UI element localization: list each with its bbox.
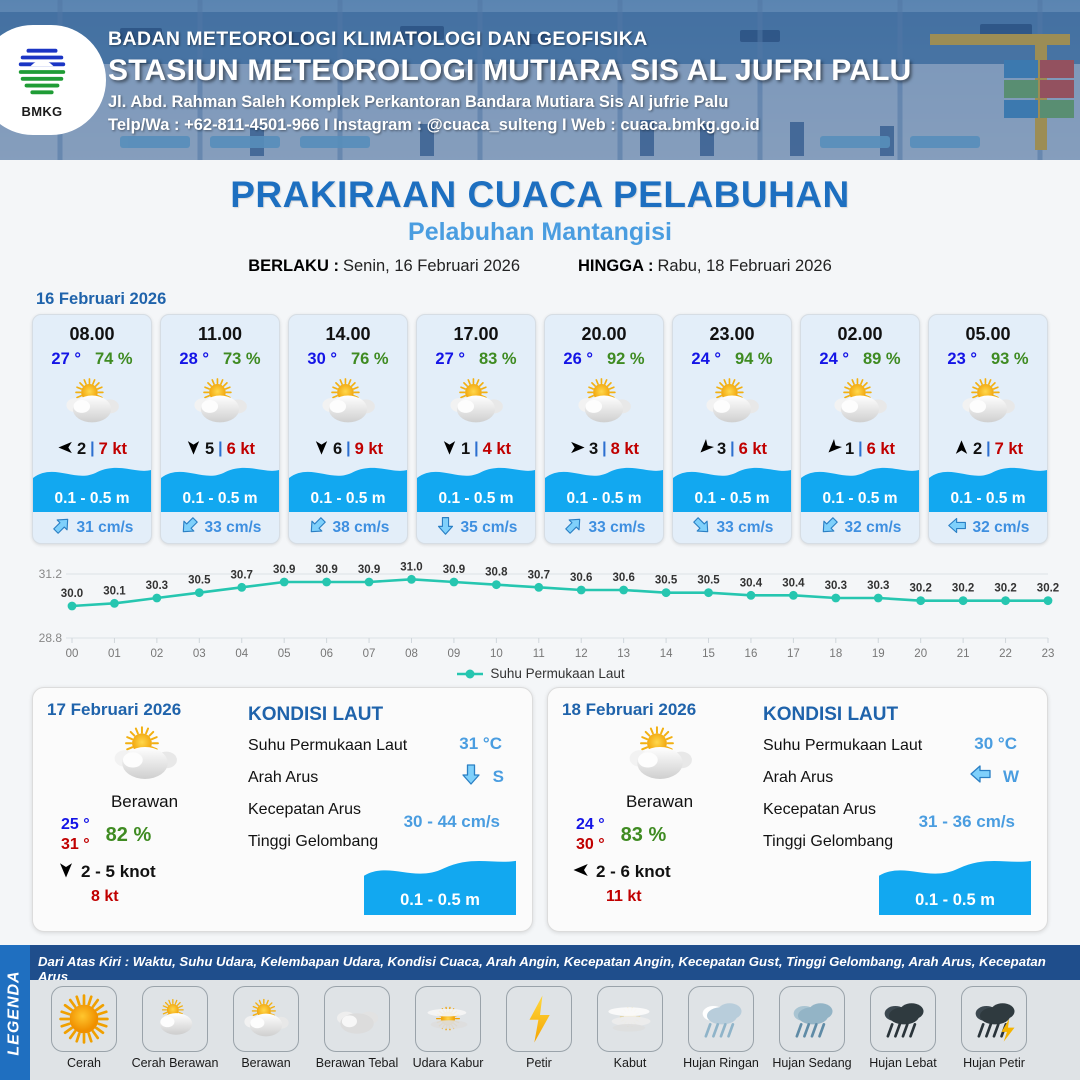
legend-tab: LEGENDA: [0, 945, 30, 1080]
svg-text:01: 01: [108, 648, 121, 660]
card-wind-row: 3 | 6 kt: [673, 437, 791, 461]
daily-forecast-panels: 17 Februari 2026 Berawan 25 ° 31 ° 82 % …: [0, 681, 1080, 932]
card-wave-block: 0.1 - 0.5 m: [417, 464, 535, 512]
card-wave-height-band: 0.1 - 0.5 m: [673, 486, 791, 512]
current-direction-arrow-icon: [969, 762, 993, 791]
hourly-card: 05.00 23 ° 93 % 2 | 7 kt 0.1 - 0.5 m 32: [928, 314, 1048, 544]
svg-text:21: 21: [957, 648, 970, 660]
svg-text:30.6: 30.6: [612, 572, 634, 584]
legend-item: Cerah Berawan: [133, 986, 217, 1080]
daily-sea-conditions: KONDISI LAUT Suhu Permukaan Laut Arah Ar…: [757, 700, 1033, 919]
sea-condition-title: KONDISI LAUT: [248, 704, 518, 726]
daily-wave-block: 0.1 - 0.5 m: [364, 859, 516, 915]
hourly-date-label: 16 Februari 2026: [36, 290, 1080, 309]
legend-item: Hujan Petir: [952, 986, 1036, 1080]
cerah-berawan-icon: [417, 371, 535, 433]
legend-item: Hujan Lebat: [861, 986, 945, 1080]
card-wind-speed: 6: [333, 440, 342, 459]
page-title-block: PRAKIRAAN CUACA PELABUHAN Pelabuhan Mant…: [0, 174, 1080, 276]
current-direction-arrow-icon: [947, 515, 968, 541]
card-humidity: 89 %: [863, 350, 901, 369]
card-separator: |: [346, 440, 350, 458]
svg-text:30.2: 30.2: [910, 583, 932, 595]
svg-text:30.4: 30.4: [740, 577, 763, 589]
card-temperature: 24 °: [691, 350, 721, 369]
daily-date: 17 Februari 2026: [47, 700, 242, 720]
kabut-icon: [597, 986, 663, 1052]
svg-text:30.3: 30.3: [867, 580, 889, 592]
card-temp-hum-row: 26 ° 92 %: [545, 350, 663, 369]
card-humidity: 76 %: [351, 350, 389, 369]
card-wind-speed: 2: [77, 440, 86, 459]
card-time: 17.00: [417, 315, 535, 345]
cerah-berawan-icon: [142, 986, 208, 1052]
daily-gust: 11 kt: [562, 888, 757, 906]
card-wave-block: 0.1 - 0.5 m: [545, 464, 663, 512]
svg-text:13: 13: [617, 648, 630, 660]
card-humidity: 92 %: [607, 350, 645, 369]
sst-value: 30 °C: [974, 734, 1017, 754]
svg-text:30.6: 30.6: [570, 572, 592, 584]
hourly-card: 02.00 24 ° 89 % 1 | 6 kt 0.1 - 0.5 m 32: [800, 314, 920, 544]
hourly-card: 17.00 27 ° 83 % 1 | 4 kt 0.1 - 0.5 m 35: [416, 314, 536, 544]
current-direction-arrow-icon: [459, 762, 483, 791]
legend-item-label: Udara Kabur: [413, 1056, 484, 1070]
daily-date: 18 Februari 2026: [562, 700, 757, 720]
card-humidity: 94 %: [735, 350, 773, 369]
card-humidity: 74 %: [95, 350, 133, 369]
current-direction-arrow-icon: [179, 515, 200, 541]
card-current-row: 38 cm/s: [289, 512, 407, 543]
wave-shape-icon: [364, 859, 516, 885]
card-wind-row: 3 | 8 kt: [545, 437, 663, 461]
legend-icon-strip: Cerah Cerah Berawan Berawan Berawan Teba…: [30, 980, 1080, 1080]
bmkg-logo-text: BMKG: [22, 104, 63, 119]
card-wind-row: 2 | 7 kt: [929, 437, 1047, 461]
card-separator: |: [730, 440, 734, 458]
card-separator: |: [474, 440, 478, 458]
card-temp-hum-row: 27 ° 83 %: [417, 350, 535, 369]
hourly-card: 20.00 26 ° 92 % 3 | 8 kt 0.1 - 0.5 m 33: [544, 314, 664, 544]
daily-panel: 18 Februari 2026 Berawan 24 ° 30 ° 83 % …: [547, 687, 1048, 932]
card-current-row: 35 cm/s: [417, 512, 535, 543]
svg-text:30.2: 30.2: [952, 583, 974, 595]
card-gust: 8 kt: [611, 440, 639, 459]
legend-item: Kabut: [588, 986, 672, 1080]
card-current-row: 33 cm/s: [545, 512, 663, 543]
legend-item-label: Cerah Berawan: [132, 1056, 219, 1070]
hourly-card: 11.00 28 ° 73 % 5 | 6 kt 0.1 - 0.5 m 33: [160, 314, 280, 544]
berawan-icon: [233, 986, 299, 1052]
current-direction-value: S: [493, 767, 504, 787]
card-wave-block: 0.1 - 0.5 m: [161, 464, 279, 512]
card-temperature: 27 °: [435, 350, 465, 369]
sst-chart-svg: 31.228.800010203040506070809101112131415…: [20, 552, 1060, 664]
card-time: 11.00: [161, 315, 279, 345]
legend-item-label: Hujan Petir: [963, 1056, 1025, 1070]
svg-text:03: 03: [193, 648, 206, 660]
svg-text:30.9: 30.9: [443, 564, 465, 576]
card-current-speed: 32 cm/s: [845, 519, 902, 537]
header-text-block: BADAN METEOROLOGI KLIMATOLOGI DAN GEOFIS…: [108, 28, 911, 135]
card-gust: 6 kt: [867, 440, 895, 459]
legend-item-label: Hujan Sedang: [772, 1056, 851, 1070]
wind-direction-arrow-icon: [313, 439, 330, 460]
card-wave-height: 0.1 - 0.5 m: [567, 490, 642, 508]
svg-text:06: 06: [320, 648, 333, 660]
legend-item: Berawan Tebal: [315, 986, 399, 1080]
svg-text:30.9: 30.9: [273, 564, 295, 576]
card-current-speed: 33 cm/s: [589, 519, 646, 537]
card-gust: 7 kt: [995, 440, 1023, 459]
legend-item-label: Berawan Tebal: [316, 1056, 398, 1070]
card-wind-row: 2 | 7 kt: [33, 437, 151, 461]
card-wave-block: 0.1 - 0.5 m: [289, 464, 407, 512]
hujan-petir-icon: [961, 986, 1027, 1052]
card-wave-height-band: 0.1 - 0.5 m: [545, 486, 663, 512]
hourly-forecast-cards: 08.00 27 ° 74 % 2 | 7 kt 0.1 - 0.5 m 31: [0, 314, 1080, 544]
svg-text:18: 18: [829, 648, 842, 660]
validity-row: BERLAKU :Senin, 16 Februari 2026 HINGGA …: [0, 257, 1080, 276]
card-wind-speed: 3: [717, 440, 726, 459]
card-wind-speed: 2: [973, 440, 982, 459]
card-gust: 6 kt: [227, 440, 255, 459]
hujan-sedang-icon: [779, 986, 845, 1052]
current-direction-arrow-icon: [563, 515, 584, 541]
card-temperature: 23 °: [947, 350, 977, 369]
current-speed-value: 30 - 44 cm/s: [404, 812, 500, 832]
berawan-tebal-icon: [324, 986, 390, 1052]
legend-item: Hujan Sedang: [770, 986, 854, 1080]
card-wind-row: 1 | 4 kt: [417, 437, 535, 461]
svg-text:19: 19: [872, 648, 885, 660]
svg-text:02: 02: [150, 648, 163, 660]
daily-humidity: 83 %: [621, 824, 667, 847]
svg-text:14: 14: [660, 648, 673, 660]
svg-text:30.7: 30.7: [231, 569, 253, 581]
legend-tab-label: LEGENDA: [6, 970, 24, 1055]
daily-wave-band: 0.1 - 0.5 m: [879, 885, 1031, 915]
daily-temp-min: 24 °: [576, 816, 605, 834]
svg-text:09: 09: [448, 648, 461, 660]
card-current-speed: 32 cm/s: [973, 519, 1030, 537]
card-current-row: 33 cm/s: [673, 512, 791, 543]
daily-wind-speed: 2 - 6 knot: [596, 862, 671, 882]
card-wave-height-band: 0.1 - 0.5 m: [33, 486, 151, 512]
daily-humidity: 82 %: [106, 824, 152, 847]
svg-text:22: 22: [999, 648, 1012, 660]
wave-shape-icon: [545, 464, 663, 486]
daily-left: 17 Februari 2026 Berawan 25 ° 31 ° 82 % …: [47, 700, 242, 919]
station-name: STASIUN METEOROLOGI MUTIARA SIS AL JUFRI…: [108, 54, 911, 88]
svg-text:31.2: 31.2: [39, 567, 63, 581]
wave-height-label: Tinggi Gelombang: [248, 833, 518, 851]
svg-text:08: 08: [405, 648, 418, 660]
svg-text:10: 10: [490, 648, 503, 660]
card-wind-speed: 1: [461, 440, 470, 459]
card-wind-row: 1 | 6 kt: [801, 437, 919, 461]
svg-text:11: 11: [533, 648, 545, 660]
svg-text:28.8: 28.8: [39, 631, 63, 645]
card-wave-block: 0.1 - 0.5 m: [929, 464, 1047, 512]
wave-shape-icon: [801, 464, 919, 486]
cerah-berawan-icon: [801, 371, 919, 433]
svg-text:30.1: 30.1: [103, 585, 126, 597]
card-wave-height: 0.1 - 0.5 m: [951, 490, 1026, 508]
svg-text:30.0: 30.0: [61, 588, 83, 600]
bmkg-logo: BMKG: [0, 25, 106, 135]
legend-item-label: Petir: [526, 1056, 552, 1070]
daily-wind-speed: 2 - 5 knot: [81, 862, 156, 882]
card-wave-height: 0.1 - 0.5 m: [183, 490, 258, 508]
cerah-berawan-icon: [545, 371, 663, 433]
svg-text:12: 12: [575, 648, 588, 660]
legend-item: Berawan: [224, 986, 308, 1080]
legend-item-label: Berawan: [241, 1056, 290, 1070]
chart-legend: Suhu Permukaan Laut: [0, 666, 1080, 681]
card-wind-speed: 1: [845, 440, 854, 459]
sst-chart: 31.228.800010203040506070809101112131415…: [20, 552, 1060, 664]
svg-text:07: 07: [363, 648, 376, 660]
svg-text:30.5: 30.5: [188, 575, 211, 587]
svg-text:30.5: 30.5: [697, 575, 720, 587]
card-wave-height-band: 0.1 - 0.5 m: [929, 486, 1047, 512]
wave-shape-icon: [929, 464, 1047, 486]
daily-temp-max: 30 °: [576, 836, 605, 854]
cerah-berawan-icon: [289, 371, 407, 433]
daily-temp-max: 31 °: [61, 836, 90, 854]
hourly-card: 14.00 30 ° 76 % 6 | 9 kt 0.1 - 0.5 m 38: [288, 314, 408, 544]
card-wind-row: 5 | 6 kt: [161, 437, 279, 461]
card-current-row: 32 cm/s: [801, 512, 919, 543]
card-wind-speed: 3: [589, 440, 598, 459]
cerah-berawan-icon: [929, 371, 1047, 433]
card-wave-height-band: 0.1 - 0.5 m: [801, 486, 919, 512]
svg-text:30.8: 30.8: [485, 567, 508, 579]
card-humidity: 73 %: [223, 350, 261, 369]
card-wave-block: 0.1 - 0.5 m: [33, 464, 151, 512]
svg-text:30.3: 30.3: [146, 580, 168, 592]
port-name: Pelabuhan Mantangisi: [0, 218, 1080, 247]
svg-text:16: 16: [745, 648, 758, 660]
svg-text:05: 05: [278, 648, 291, 660]
daily-wind-row: 2 - 5 knot: [47, 861, 242, 883]
card-temperature: 28 °: [179, 350, 209, 369]
hourly-card: 08.00 27 ° 74 % 2 | 7 kt 0.1 - 0.5 m 31: [32, 314, 152, 544]
card-wave-block: 0.1 - 0.5 m: [673, 464, 791, 512]
svg-text:30.2: 30.2: [994, 583, 1016, 595]
daily-temp-col: 24 ° 30 °: [576, 816, 605, 854]
wind-direction-arrow-icon: [572, 861, 590, 883]
card-humidity: 93 %: [991, 350, 1029, 369]
card-wave-height-band: 0.1 - 0.5 m: [289, 486, 407, 512]
card-separator: |: [858, 440, 862, 458]
daily-wave-block: 0.1 - 0.5 m: [879, 859, 1031, 915]
current-direction-arrow-icon: [435, 515, 456, 541]
wave-shape-icon: [879, 859, 1031, 885]
legend-item-label: Hujan Lebat: [869, 1056, 936, 1070]
page-title: PRAKIRAAN CUACA PELABUHAN: [0, 174, 1080, 216]
sst-value: 31 °C: [459, 734, 502, 754]
petir-icon: [506, 986, 572, 1052]
card-temp-hum-row: 28 ° 73 %: [161, 350, 279, 369]
wave-shape-icon: [417, 464, 535, 486]
card-wave-height: 0.1 - 0.5 m: [695, 490, 770, 508]
card-current-speed: 35 cm/s: [461, 519, 518, 537]
card-current-speed: 33 cm/s: [717, 519, 774, 537]
card-wave-height: 0.1 - 0.5 m: [823, 490, 898, 508]
sea-condition-title: KONDISI LAUT: [763, 704, 1033, 726]
card-wind-row: 6 | 9 kt: [289, 437, 407, 461]
svg-text:23: 23: [1042, 648, 1055, 660]
daily-wave-height: 0.1 - 0.5 m: [915, 891, 995, 910]
card-current-speed: 33 cm/s: [205, 519, 262, 537]
current-direction-value-group: S: [459, 762, 504, 791]
current-speed-value: 31 - 36 cm/s: [919, 812, 1015, 832]
card-time: 08.00: [33, 315, 151, 345]
card-time: 20.00: [545, 315, 663, 345]
page-header: BMKG BADAN METEOROLOGI KLIMATOLOGI DAN G…: [0, 0, 1080, 160]
svg-text:30.7: 30.7: [528, 569, 550, 581]
daily-left: 18 Februari 2026 Berawan 24 ° 30 ° 83 % …: [562, 700, 757, 919]
card-wind-speed: 5: [205, 440, 214, 459]
card-temp-hum-row: 30 ° 76 %: [289, 350, 407, 369]
current-direction-value-group: W: [969, 762, 1019, 791]
wind-direction-arrow-icon: [825, 439, 842, 460]
daily-temp-min: 25 °: [61, 816, 90, 834]
card-wave-height: 0.1 - 0.5 m: [439, 490, 514, 508]
svg-text:17: 17: [787, 648, 800, 660]
hujan-lebat-icon: [870, 986, 936, 1052]
svg-text:20: 20: [914, 648, 927, 660]
daily-temp-row: 25 ° 31 ° 82 %: [47, 816, 242, 854]
card-wave-block: 0.1 - 0.5 m: [801, 464, 919, 512]
svg-text:30.2: 30.2: [1037, 583, 1059, 595]
card-wave-height-band: 0.1 - 0.5 m: [417, 486, 535, 512]
cerah-berawan-icon: [33, 371, 151, 433]
berlaku-label: BERLAKU :: [248, 257, 339, 275]
wind-direction-arrow-icon: [441, 439, 458, 460]
current-direction-value: W: [1003, 767, 1019, 787]
svg-text:31.0: 31.0: [400, 561, 422, 573]
card-temp-hum-row: 27 ° 74 %: [33, 350, 151, 369]
daily-condition: Berawan: [47, 792, 242, 812]
daily-gust: 8 kt: [47, 888, 242, 906]
wind-direction-arrow-icon: [569, 439, 586, 460]
svg-text:30.3: 30.3: [825, 580, 847, 592]
wave-shape-icon: [33, 464, 151, 486]
legend-item: Petir: [497, 986, 581, 1080]
wind-direction-arrow-icon: [953, 439, 970, 460]
wave-height-label: Tinggi Gelombang: [763, 833, 1033, 851]
svg-text:04: 04: [235, 648, 248, 660]
card-temperature: 24 °: [819, 350, 849, 369]
hingga-group: HINGGA :Rabu, 18 Februari 2026: [578, 257, 832, 276]
card-separator: |: [602, 440, 606, 458]
wave-shape-icon: [673, 464, 791, 486]
daily-wave-height: 0.1 - 0.5 m: [400, 891, 480, 910]
station-contact: Telp/Wa : +62-811-4501-966 I Instagram :…: [108, 116, 911, 135]
hujan-ringan-icon: [688, 986, 754, 1052]
daily-sea-conditions: KONDISI LAUT Suhu Permukaan Laut Arah Ar…: [242, 700, 518, 919]
card-current-speed: 38 cm/s: [333, 519, 390, 537]
card-time: 02.00: [801, 315, 919, 345]
card-current-speed: 31 cm/s: [77, 519, 134, 537]
card-time: 23.00: [673, 315, 791, 345]
svg-text:15: 15: [702, 648, 715, 660]
wind-direction-arrow-icon: [57, 861, 75, 883]
card-wave-height: 0.1 - 0.5 m: [55, 490, 130, 508]
svg-text:00: 00: [66, 648, 79, 660]
svg-text:30.9: 30.9: [358, 564, 380, 576]
agency-name: BADAN METEOROLOGI KLIMATOLOGI DAN GEOFIS…: [108, 28, 911, 51]
berawan-icon: [562, 722, 757, 788]
station-address: Jl. Abd. Rahman Saleh Komplek Perkantora…: [108, 93, 911, 112]
hingga-label: HINGGA :: [578, 257, 653, 275]
cerah-berawan-icon: [161, 371, 279, 433]
legend-item: Hujan Ringan: [679, 986, 763, 1080]
card-temp-hum-row: 24 ° 94 %: [673, 350, 791, 369]
wave-shape-icon: [289, 464, 407, 486]
legend-item-label: Hujan Ringan: [683, 1056, 759, 1070]
current-direction-arrow-icon: [307, 515, 328, 541]
cerah-icon: [51, 986, 117, 1052]
card-separator: |: [90, 440, 94, 458]
daily-wind-row: 2 - 6 knot: [562, 861, 757, 883]
legend-item: Cerah: [42, 986, 126, 1080]
current-direction-arrow-icon: [691, 515, 712, 541]
daily-wave-band: 0.1 - 0.5 m: [364, 885, 516, 915]
card-current-row: 32 cm/s: [929, 512, 1047, 543]
berlaku-group: BERLAKU :Senin, 16 Februari 2026: [248, 257, 520, 276]
card-gust: 6 kt: [739, 440, 767, 459]
legend-item-label: Cerah: [67, 1056, 101, 1070]
wave-shape-icon: [161, 464, 279, 486]
card-time: 14.00: [289, 315, 407, 345]
chart-legend-label: Suhu Permukaan Laut: [490, 666, 624, 681]
berawan-icon: [47, 722, 242, 788]
hingga-value: Rabu, 18 Februari 2026: [657, 257, 831, 275]
daily-panel: 17 Februari 2026 Berawan 25 ° 31 ° 82 % …: [32, 687, 533, 932]
cerah-berawan-icon: [673, 371, 791, 433]
legend-marker-icon: [455, 668, 485, 680]
daily-temp-col: 25 ° 31 °: [61, 816, 90, 854]
card-separator: |: [218, 440, 222, 458]
card-humidity: 83 %: [479, 350, 517, 369]
card-temperature: 26 °: [563, 350, 593, 369]
svg-text:30.5: 30.5: [655, 575, 678, 587]
card-current-row: 31 cm/s: [33, 512, 151, 543]
card-time: 05.00: [929, 315, 1047, 345]
bmkg-emblem-icon: [13, 41, 71, 103]
card-wave-height: 0.1 - 0.5 m: [311, 490, 386, 508]
legend-section: LEGENDA Dari Atas Kiri : Waktu, Suhu Uda…: [0, 945, 1080, 1080]
svg-text:30.4: 30.4: [782, 577, 805, 589]
current-direction-arrow-icon: [51, 515, 72, 541]
wind-direction-arrow-icon: [185, 439, 202, 460]
daily-condition: Berawan: [562, 792, 757, 812]
berlaku-value: Senin, 16 Februari 2026: [343, 257, 520, 275]
card-gust: 7 kt: [99, 440, 127, 459]
legend-item: Udara Kabur: [406, 986, 490, 1080]
wind-direction-arrow-icon: [697, 439, 714, 460]
card-temp-hum-row: 24 ° 89 %: [801, 350, 919, 369]
card-gust: 4 kt: [483, 440, 511, 459]
udara-kabur-icon: [415, 986, 481, 1052]
card-temperature: 30 °: [307, 350, 337, 369]
daily-temp-row: 24 ° 30 ° 83 %: [562, 816, 757, 854]
card-current-row: 33 cm/s: [161, 512, 279, 543]
